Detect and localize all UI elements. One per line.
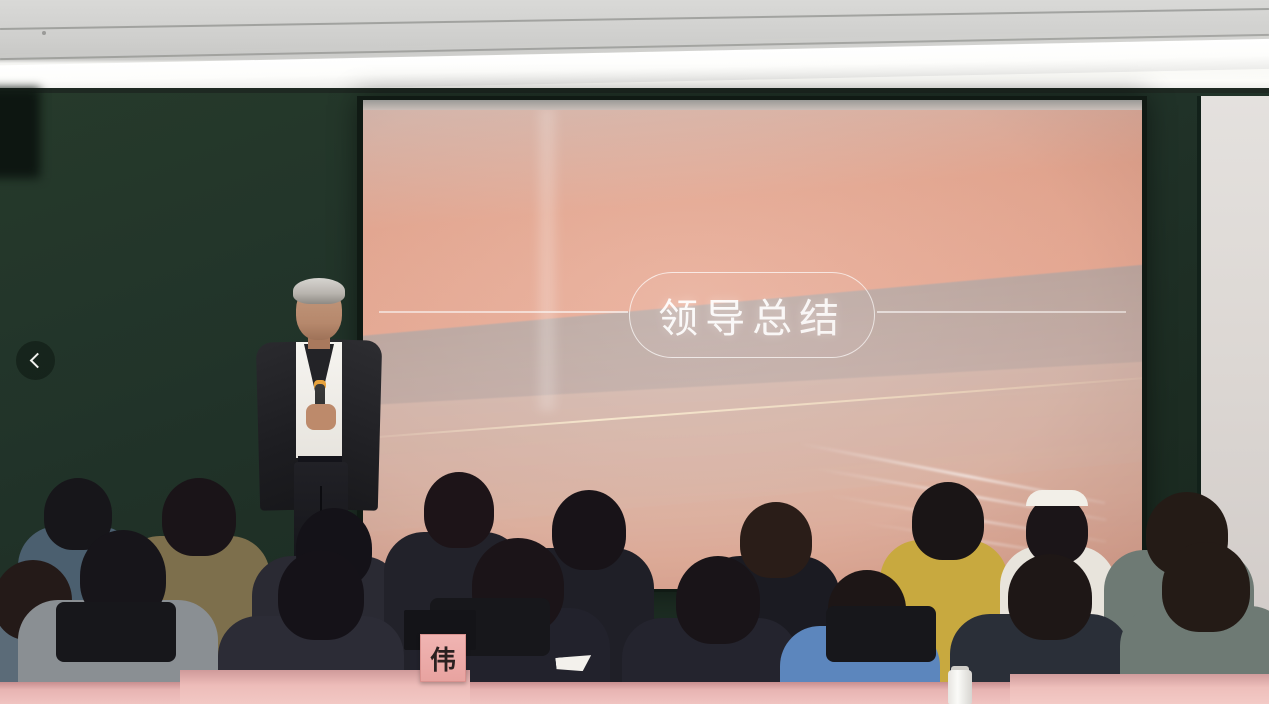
photo-viewer-stage: 领导总结 [0, 0, 1269, 704]
previous-photo-button[interactable] [16, 341, 55, 380]
audience [0, 430, 1269, 704]
wall-ceiling-trim [0, 88, 1269, 93]
nameplate-character: 伟 [430, 640, 456, 677]
attendee-head [1008, 554, 1092, 640]
water-bottle [948, 670, 972, 704]
screen-top-shadow [363, 100, 1142, 110]
chair-back [56, 602, 176, 662]
attendee-head [162, 478, 236, 556]
ceiling-seam [0, 8, 1269, 30]
attendee-head [552, 490, 626, 570]
presenter-hands [306, 404, 336, 430]
attendee-head [912, 482, 984, 560]
desk-nameplate: 伟 [420, 634, 466, 682]
corner-shadow [0, 88, 40, 178]
chair-back [826, 606, 936, 662]
attendee-head [1162, 542, 1250, 632]
attendee-head [740, 502, 812, 578]
table-right [1010, 674, 1269, 704]
attendee-headband [1026, 490, 1088, 506]
ceiling [0, 0, 1269, 96]
chevron-left-icon [30, 353, 46, 369]
attendee-head [676, 556, 760, 644]
presenter-hair [293, 278, 345, 304]
attendee-head [424, 472, 494, 548]
ceiling-fixture-dot [42, 31, 46, 35]
attendee-head [278, 550, 364, 640]
